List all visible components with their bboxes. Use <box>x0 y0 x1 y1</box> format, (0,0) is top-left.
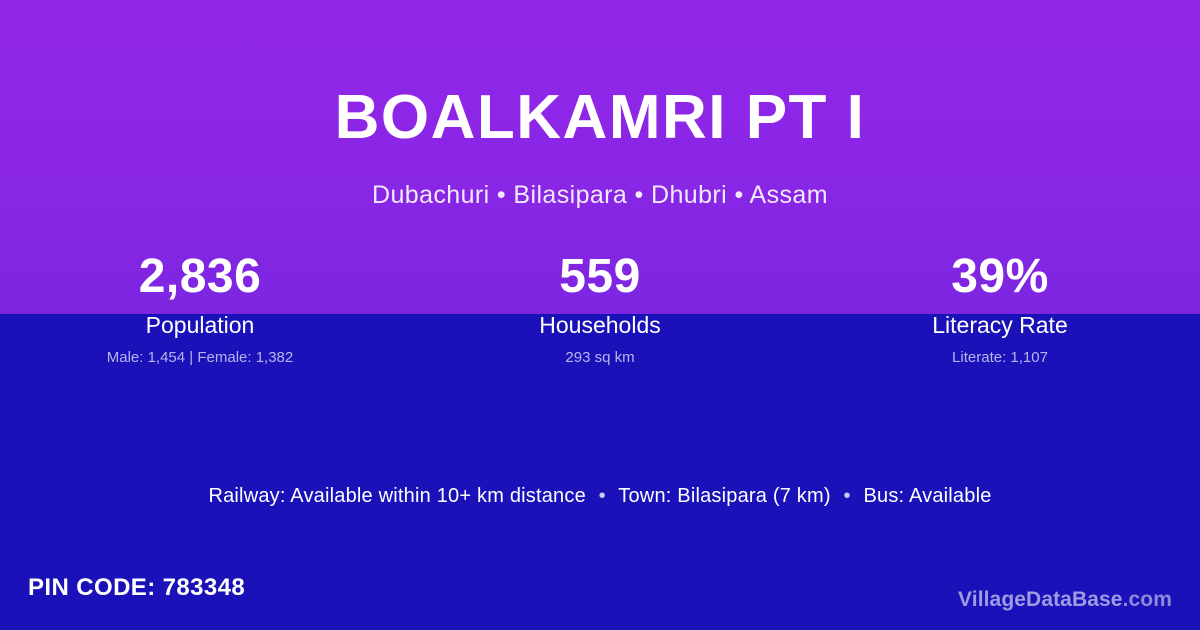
stat-sublabel: Male: 1,454 | Female: 1,382 <box>0 349 400 367</box>
stat-sublabel: Literate: 1,107 <box>800 349 1200 367</box>
stat-literacy-rate: 39% Literacy Rate Literate: 1,107 <box>800 248 1200 367</box>
village-info-card: BOALKAMRI PT I Dubachuri • Bilasipara • … <box>0 0 1200 630</box>
facilities-line: Railway: Available within 10+ km distanc… <box>0 485 1200 508</box>
facility-separator: • <box>592 485 613 507</box>
stat-label: Population <box>0 312 400 340</box>
stat-label: Literacy Rate <box>800 312 1200 340</box>
facility-bus: Bus: Available <box>863 485 991 507</box>
page-title: BOALKAMRI PT I <box>0 84 1200 152</box>
pin-code: PIN CODE: 783348 <box>28 574 245 602</box>
stat-sublabel: 293 sq km <box>400 349 800 367</box>
stat-population: 2,836 Population Male: 1,454 | Female: 1… <box>0 248 400 367</box>
stat-label: Households <box>400 312 800 340</box>
stat-value: 39% <box>800 248 1200 306</box>
facility-separator: • <box>837 485 858 507</box>
brand-tld: .com <box>1123 588 1172 611</box>
site-brand: VillageDataBase.com <box>958 588 1172 612</box>
stat-value: 559 <box>400 248 800 306</box>
stat-households: 559 Households 293 sq km <box>400 248 800 367</box>
facility-town: Town: Bilasipara (7 km) <box>618 485 830 507</box>
stats-row: 2,836 Population Male: 1,454 | Female: 1… <box>0 248 1200 367</box>
breadcrumb: Dubachuri • Bilasipara • Dhubri • Assam <box>0 181 1200 210</box>
facility-railway: Railway: Available within 10+ km distanc… <box>208 485 585 507</box>
brand-name: VillageDataBase <box>958 588 1123 611</box>
stat-value: 2,836 <box>0 248 400 306</box>
